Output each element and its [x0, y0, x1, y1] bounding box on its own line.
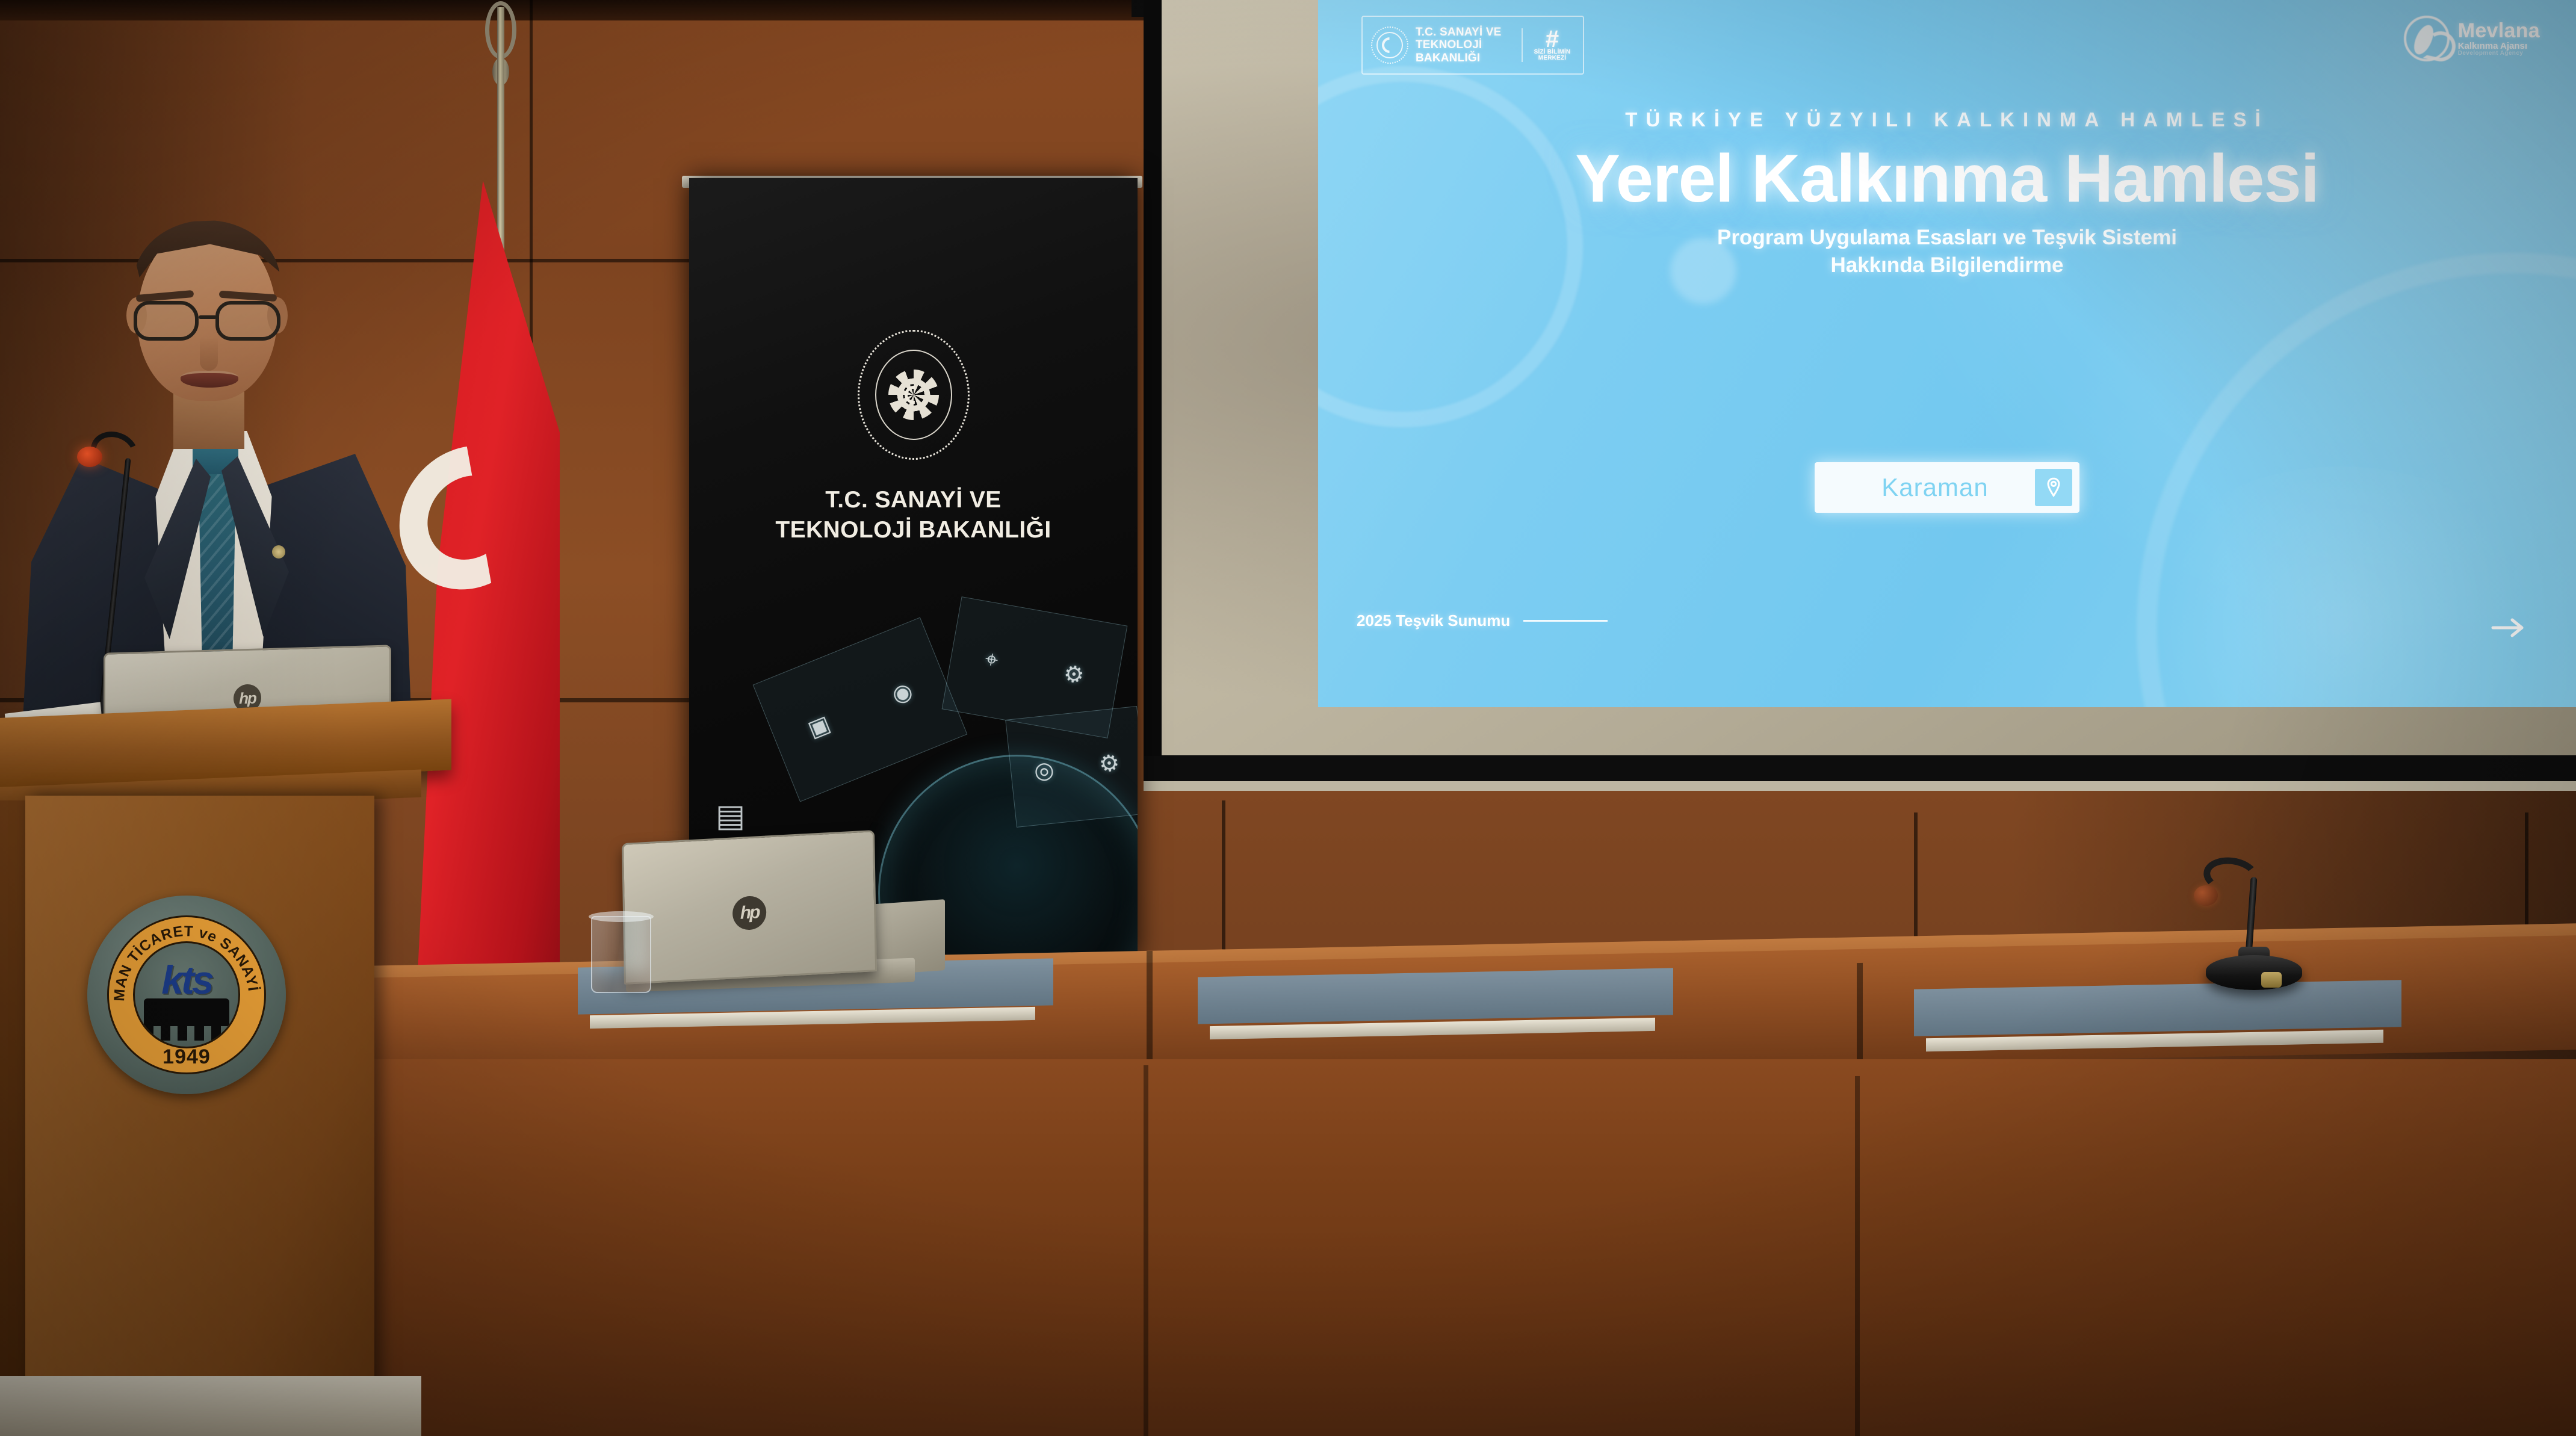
banner-title-line2: TEKNOLOJİ BAKANLIĞI: [689, 515, 1138, 545]
agency-subtitle: Kalkınma Ajansı: [2458, 42, 2540, 51]
ministry-seal-icon: [1371, 26, 1408, 64]
slide-agency-logo: Mevlana Kalkınma Ajansı Development Agen…: [2404, 16, 2540, 61]
footer-rule: [1523, 620, 1608, 622]
emblem-monogram: kts: [135, 960, 238, 1000]
arrow-right-icon[interactable]: [2489, 616, 2528, 640]
emblem-core: kts: [133, 941, 240, 1048]
hashtag-icon: #: [1546, 29, 1559, 49]
brain-circuit-icon: ◉: [888, 676, 917, 709]
slide-footer-text: 2025 Teşvik Sunumu: [1357, 611, 1510, 630]
desk-pad: [1198, 968, 1673, 1024]
desk-pad: [1914, 980, 2401, 1036]
agency-subtitle-en: Development Agency: [2458, 51, 2540, 57]
slide-headline: Yerel Kalkınma Hamlesi: [1318, 144, 2576, 213]
slide-kicker: TÜRKİYE YÜZYILI KALKINMA HAMLESİ: [1318, 108, 2576, 131]
robot-arm-icon: ⌖: [983, 646, 1000, 673]
emblem-inner-ring: [875, 350, 952, 440]
slide-subline-1: Program Uygulama Esasları ve Teşvik Sist…: [1318, 224, 2576, 252]
tech-panel-1: ▣ ◉: [753, 617, 968, 802]
table-segment-gap: [1147, 951, 1153, 1077]
water-glass-icon: [591, 916, 651, 993]
mouth: [181, 371, 238, 388]
podium-front-panel: [25, 796, 374, 1436]
crescent-icon: [905, 386, 923, 404]
microphone-base: [2206, 955, 2302, 990]
floor-strip: [0, 1376, 421, 1436]
logo-divider: [1522, 28, 1523, 62]
gears-icon: ⚙: [1098, 749, 1121, 778]
glasses-bridge: [199, 315, 217, 319]
table-front-seam: [1855, 1076, 1860, 1436]
slide-footer: 2025 Teşvik Sunumu: [1357, 611, 1608, 630]
lapel-pin-icon: [272, 545, 285, 559]
presentation-slide[interactable]: T.C. SANAYİ VE TEKNOLOJİ BAKANLIĞI # SİZ…: [1318, 0, 2576, 707]
conference-hall-scene: T.C. SANAYİ VE TEKNOLOJİ BAKANLIĞI # SİZ…: [0, 0, 2576, 1436]
ministry-logo-line2: TEKNOLOJİ BAKANLIĞI: [1416, 39, 1514, 64]
banner-title: T.C. SANAYİ VE TEKNOLOJİ BAKANLIĞI: [689, 485, 1138, 545]
agency-logo-text: Mevlana Kalkınma Ajansı Development Agen…: [2458, 20, 2540, 57]
laptop-circuit-icon: ▤: [716, 798, 745, 834]
agency-name: Mevlana: [2458, 20, 2540, 42]
hashtag-campaign-logo: # SİZİ BİLİMİN MERKEZİ: [1530, 29, 1574, 62]
emblem-outer-ring: KARAMAN TİCARET ve SANAYİ ODASI kts 1949: [107, 915, 266, 1074]
ministry-logo-line1: T.C. SANAYİ VE: [1416, 26, 1514, 39]
hashtag-campaign-text: SİZİ BİLİMİN MERKEZİ: [1530, 49, 1574, 62]
conference-microphone-icon: [2188, 858, 2314, 990]
ministry-emblem-icon: [858, 330, 970, 460]
city-selector[interactable]: Karaman: [1815, 462, 2079, 513]
screen-bottom-lip: [1144, 781, 2576, 791]
gears-icon: ⚙: [1062, 659, 1086, 689]
microphone-connector: [2261, 972, 2282, 988]
city-name: Karaman: [1815, 473, 2035, 502]
slide-subline-2: Hakkında Bilgilendirme: [1318, 252, 2576, 279]
gear-icon: [144, 998, 229, 1041]
gear-icon: [888, 370, 939, 420]
microchip-icon: ▣: [803, 710, 834, 743]
conference-table-front-panel: [325, 1059, 2576, 1436]
mevlana-swirl-icon: [2404, 16, 2450, 61]
slide-ministry-logo: T.C. SANAYİ VE TEKNOLOJİ BAKANLIĞI # SİZ…: [1361, 16, 1584, 75]
slide-copy-block: TÜRKİYE YÜZYILI KALKINMA HAMLESİ Yerel K…: [1318, 108, 2576, 279]
table-front-seam: [1144, 1065, 1148, 1436]
water-glass-rim: [589, 911, 654, 922]
location-pin-icon[interactable]: [2035, 469, 2072, 506]
table-laptop[interactable]: hp: [622, 830, 877, 985]
lens-right: [215, 301, 280, 341]
ministry-logo-text: T.C. SANAYİ VE TEKNOLOJİ BAKANLIĞI: [1416, 26, 1514, 64]
chamber-of-commerce-emblem: KARAMAN TİCARET ve SANAYİ ODASI kts 1949: [87, 896, 286, 1094]
screen-bottom-bar: [1144, 756, 2576, 781]
gooseneck-microphone-icon: [77, 447, 102, 467]
nose: [200, 337, 218, 371]
lens-left: [134, 301, 199, 341]
eye-sensor-icon: ◎: [1033, 756, 1056, 785]
banner-title-line1: T.C. SANAYİ VE: [689, 485, 1138, 515]
tech-panel-3: ◎ ⚙: [1005, 706, 1138, 828]
hp-logo-icon: hp: [732, 895, 767, 930]
emblem-year: 1949: [109, 1045, 264, 1069]
